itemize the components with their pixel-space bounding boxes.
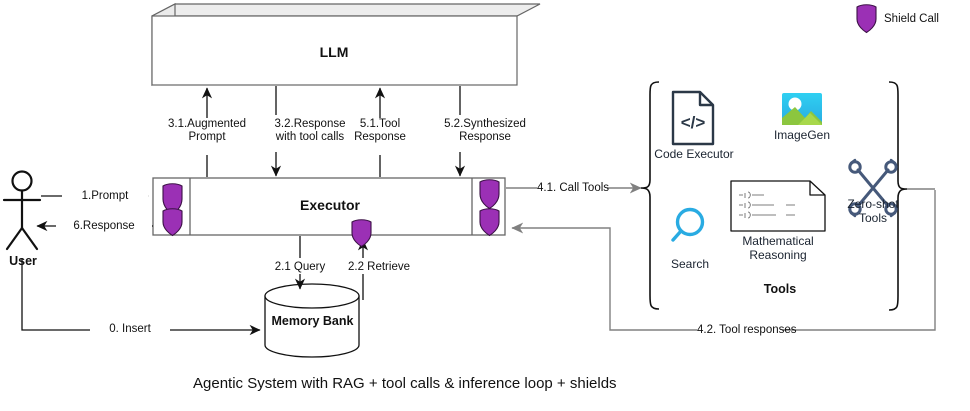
user-actor-icon [4,172,40,250]
tools-group-label: Tools [740,283,820,296]
diagram-canvas: </> [0,0,970,411]
shield-executor-memory [352,220,371,247]
diagram-caption: Agentic System with RAG + tool calls & i… [193,375,617,392]
tools-right-brace [889,82,935,310]
edge-label-query: 2.1 Query [262,261,338,274]
code-document-icon: </> [673,92,713,144]
formula-document-icon [731,181,825,231]
magnifier-icon [673,210,703,241]
tool-label-math-reasoning: Mathematical Reasoning [725,234,831,262]
edge-label-response: 6.Response [56,220,152,233]
llm-label: LLM [294,46,374,59]
edge-label-prompt: 1.Prompt [62,190,148,203]
user-label: User [0,255,46,268]
edge-label-tool-response: 5.1.Tool Response [330,118,430,144]
memory-bank-label: Memory Bank [265,315,360,328]
shield-legend-label: Shield Call [884,13,964,26]
edge-insert [22,258,260,330]
tool-label-imagegen: ImageGen [772,128,832,142]
tool-label-search: Search [660,257,720,271]
tool-label-zero-shot: Zero-shot Tools [838,197,908,225]
edge-label-call-tools: 4.1. Call Tools [537,182,607,195]
tool-label-code-executor: Code Executor [650,147,738,161]
image-icon [782,93,822,125]
diagram-vector-layer: </> [0,0,970,411]
edge-label-synthesized-response: 5.2.Synthesized Response [420,118,550,144]
shield-legend-icon [857,5,876,33]
edge-label-insert: 0. Insert [90,323,170,336]
edge-label-retrieve: 2.2 Retrieve [334,261,424,274]
svg-text:</>: </> [681,113,706,132]
executor-label: Executor [290,199,370,212]
edge-label-tool-responses: 4.2. Tool responses [697,324,782,337]
tools-left-brace [641,82,659,309]
